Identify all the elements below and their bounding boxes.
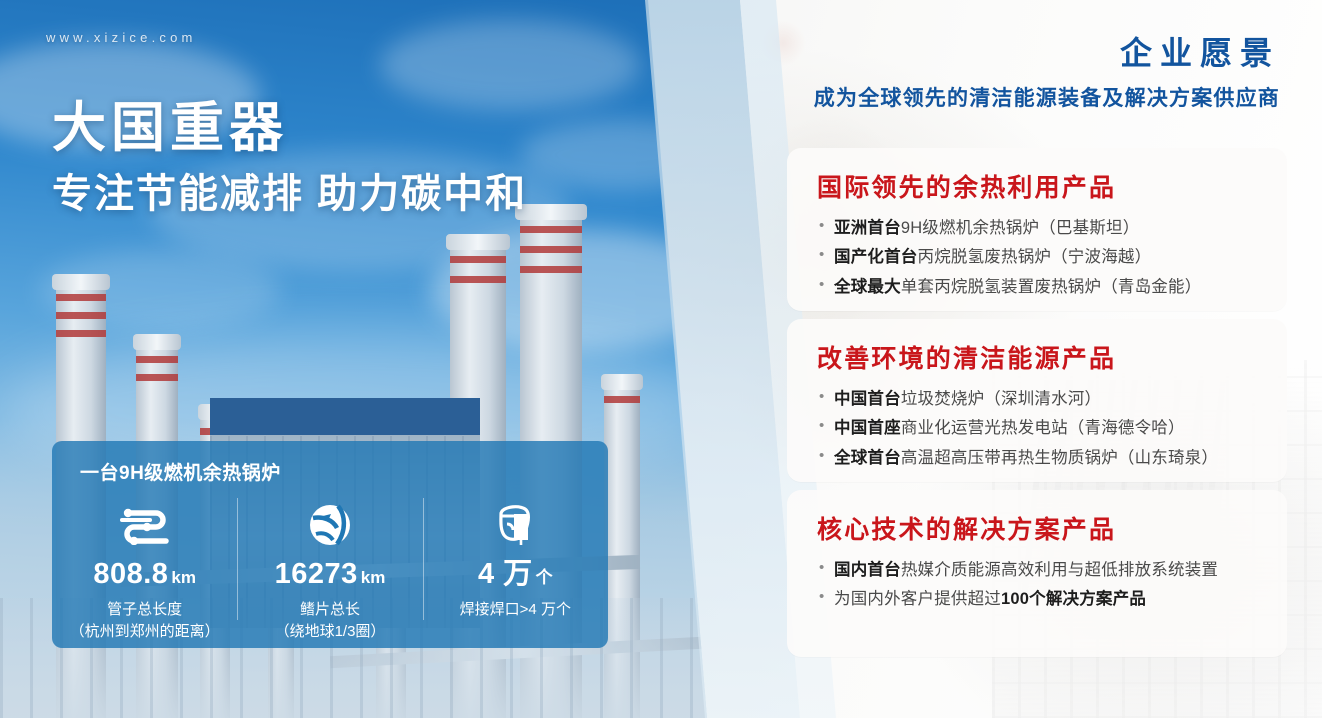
vision-card-list: 国内首台热媒介质能源高效利用与超低排放系统装置为国内外客户提供超过100个解决方… bbox=[819, 556, 1269, 615]
vision-card-title: 改善环境的清洁能源产品 bbox=[817, 339, 1116, 375]
vision-card-list-item: 亚洲首台9H级燃机余热锅炉（巴基斯坦） bbox=[819, 214, 1269, 243]
vision-card-list-item: 为国内外客户提供超过100个解决方案产品 bbox=[819, 585, 1269, 614]
vision-subtitle: 成为全球领先的清洁能源装备及解决方案供应商 bbox=[814, 82, 1280, 112]
vision-card: 核心技术的解决方案产品 国内首台热媒介质能源高效利用与超低排放系统装置为国内外客… bbox=[787, 490, 1287, 657]
slide-root: www.xizice.com 大国重器 专注节能减排 助力碳中和 一台9H级燃机… bbox=[0, 0, 1322, 718]
stat-unit: 个 bbox=[536, 568, 553, 587]
stat-item-fin-length: 16273km 鳍片总长 （绕地球1/3圈） bbox=[237, 496, 422, 643]
stat-value: 16273km bbox=[237, 560, 422, 589]
vision-card-list-item: 全球最大单套丙烷脱氢装置废热锅炉（青岛金能） bbox=[819, 273, 1269, 302]
welding-mask-icon bbox=[423, 502, 608, 548]
vision-card-list-item: 全球首台高温超高压带再热生物质锅炉（山东琦泉） bbox=[819, 444, 1269, 473]
vision-card-list-item: 中国首座商业化运营光热发电站（青海德令哈） bbox=[819, 414, 1269, 443]
page-title: 大国重器 bbox=[52, 98, 288, 158]
vision-card-list-item: 国产化首台丙烷脱氢废热锅炉（宁波海越） bbox=[819, 243, 1269, 272]
site-url-watermark: www.xizice.com bbox=[46, 30, 197, 45]
stats-panel-title: 一台9H级燃机余热锅炉 bbox=[80, 458, 281, 485]
page-subtitle: 专注节能减排 助力碳中和 bbox=[52, 170, 527, 218]
cloud bbox=[380, 20, 640, 110]
stat-unit: km bbox=[171, 568, 196, 587]
stat-item-pipe-length: 808.8km 管子总长度 （杭州到郑州的距离） bbox=[52, 496, 237, 643]
stat-label: 鳍片总长 （绕地球1/3圈） bbox=[237, 599, 422, 643]
vision-title: 企业愿景 bbox=[1120, 28, 1280, 74]
serpentine-pipe-icon bbox=[52, 502, 237, 548]
stat-value: 4 万个 bbox=[423, 560, 608, 589]
stat-label: 焊接焊口>4 万个 bbox=[423, 599, 608, 621]
vision-card-list-item: 国内首台热媒介质能源高效利用与超低排放系统装置 bbox=[819, 556, 1269, 585]
stat-value: 808.8km bbox=[52, 560, 237, 589]
stat-unit: km bbox=[361, 568, 386, 587]
vision-card-title: 国际领先的余热利用产品 bbox=[817, 168, 1116, 204]
vision-card-list-item: 中国首台垃圾焚烧炉（深圳清水河） bbox=[819, 385, 1269, 414]
stat-label: 管子总长度 （杭州到郑州的距离） bbox=[52, 599, 237, 643]
stat-item-weld-joints: 4 万个 焊接焊口>4 万个 bbox=[423, 496, 608, 621]
stats-row: 808.8km 管子总长度 （杭州到郑州的距离） 16273km bbox=[52, 496, 608, 648]
stats-panel: 一台9H级燃机余热锅炉 808.8km 管子总长度 （杭州到郑州的距离） bbox=[52, 441, 608, 648]
vision-card-title: 核心技术的解决方案产品 bbox=[817, 510, 1116, 546]
globe-icon bbox=[237, 502, 422, 548]
vision-card-list: 亚洲首台9H级燃机余热锅炉（巴基斯坦）国产化首台丙烷脱氢废热锅炉（宁波海越）全球… bbox=[819, 214, 1269, 302]
vision-card-list: 中国首台垃圾焚烧炉（深圳清水河）中国首座商业化运营光热发电站（青海德令哈）全球首… bbox=[819, 385, 1269, 473]
vision-card: 改善环境的清洁能源产品 中国首台垃圾焚烧炉（深圳清水河）中国首座商业化运营光热发… bbox=[787, 319, 1287, 482]
vision-card: 国际领先的余热利用产品 亚洲首台9H级燃机余热锅炉（巴基斯坦）国产化首台丙烷脱氢… bbox=[787, 148, 1287, 311]
